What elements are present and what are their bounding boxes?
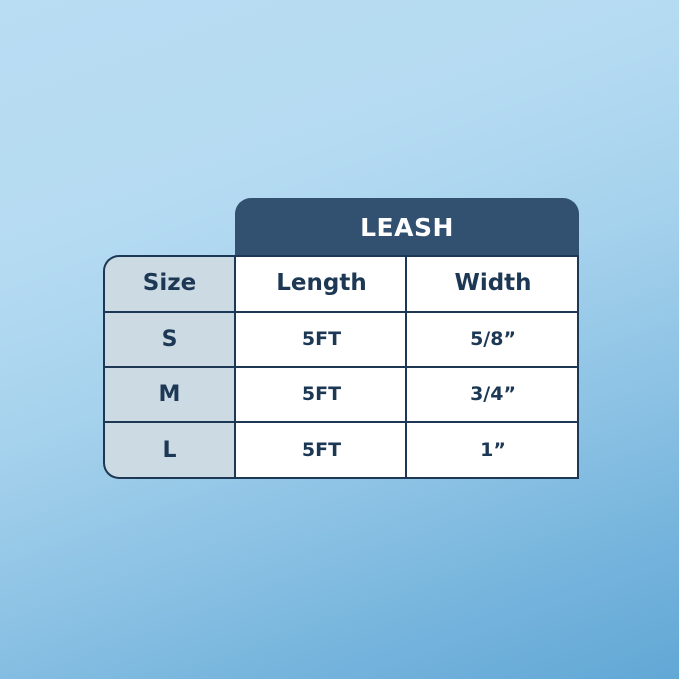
cell-size-m: M (103, 367, 236, 422)
table-title: LEASH (360, 215, 454, 240)
table-grid: Size Length Width S 5FT 5/8” M 5FT 3/4” … (103, 255, 579, 479)
column-header-length: Length (236, 255, 407, 312)
cell-length-s: 5FT (236, 312, 407, 367)
page-background: LEASH Size Length Width S 5FT 5/8” (0, 0, 679, 679)
column-header-size: Size (103, 255, 236, 312)
cell-size-s: S (103, 312, 236, 367)
size-chart-table: LEASH Size Length Width S 5FT 5/8” (103, 198, 579, 479)
cell-length-l: 5FT (236, 422, 407, 479)
cell-length-m: 5FT (236, 367, 407, 422)
table-title-banner: LEASH (235, 198, 579, 256)
table-row: M 5FT 3/4” (103, 367, 579, 422)
cell-width-l: 1” (407, 422, 579, 479)
cell-width-m: 3/4” (407, 367, 579, 422)
cell-width-s: 5/8” (407, 312, 579, 367)
table-cells: Size Length Width S 5FT 5/8” M 5FT 3/4” … (103, 255, 579, 479)
table-row: L 5FT 1” (103, 422, 579, 479)
column-header-width: Width (407, 255, 579, 312)
cell-size-l: L (103, 422, 236, 479)
table-row: S 5FT 5/8” (103, 312, 579, 367)
table-header-row: Size Length Width (103, 255, 579, 312)
